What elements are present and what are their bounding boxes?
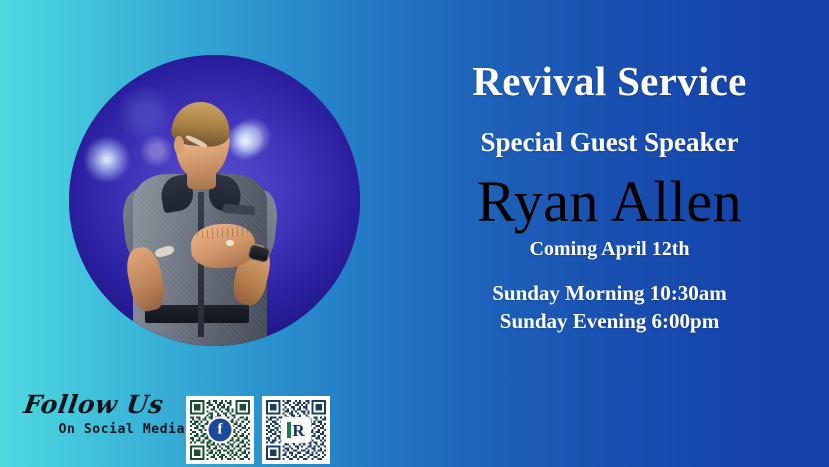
facebook-icon: f xyxy=(209,419,232,442)
church-logo-icon: R xyxy=(283,419,309,441)
follow-us-label: Follow Us xyxy=(12,392,191,418)
speaker-photo xyxy=(69,55,360,346)
facebook-qr-code[interactable]: f xyxy=(186,396,254,464)
ear xyxy=(174,136,184,153)
logo-letter: R xyxy=(292,422,304,439)
logo-bar xyxy=(287,422,291,438)
flyer-copy: Revival Service Special Guest Speaker Ry… xyxy=(390,60,829,336)
page-title: Revival Service xyxy=(390,60,829,103)
subtitle: Special Guest Speaker xyxy=(390,128,829,158)
service-times: Sunday Morning 10:30am Sunday Evening 6:… xyxy=(390,280,829,335)
service-time-morning: Sunday Morning 10:30am xyxy=(390,280,829,308)
speaker-figure xyxy=(69,55,360,346)
follow-us-block: Follow Us On Social Media xyxy=(14,392,189,437)
revival-service-flyer: Revival Service Special Guest Speaker Ry… xyxy=(0,0,829,467)
on-social-media-label: On Social Media xyxy=(14,422,189,437)
speaker-name: Ryan Allen xyxy=(390,172,829,232)
coming-date: Coming April 12th xyxy=(390,238,829,261)
service-time-evening: Sunday Evening 6:00pm xyxy=(390,308,829,336)
trousers xyxy=(145,305,250,322)
qr-code-row: f R xyxy=(186,396,330,464)
church-qr-code[interactable]: R xyxy=(262,396,330,464)
ring xyxy=(226,240,234,246)
